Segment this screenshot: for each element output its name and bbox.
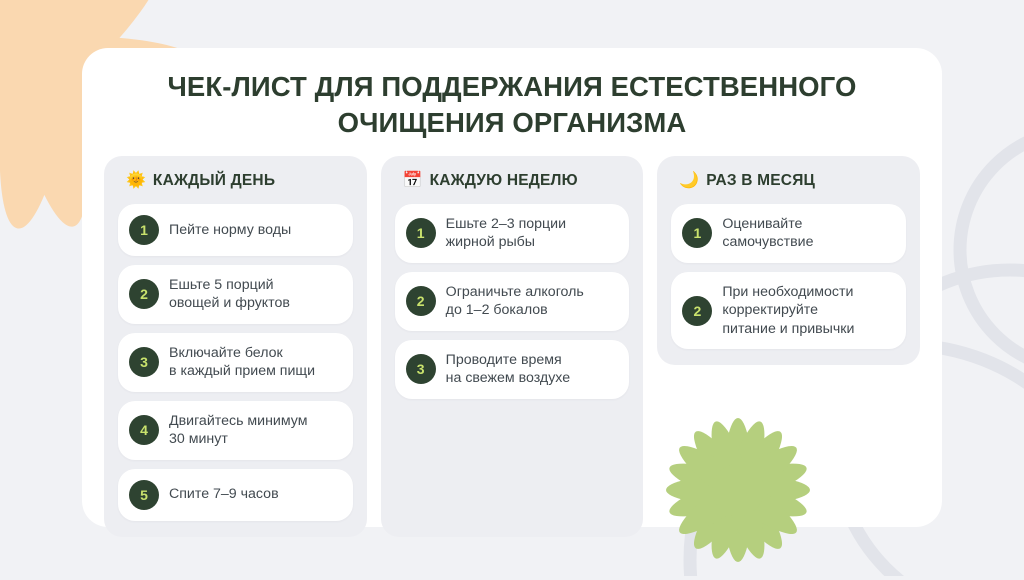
- item-number-badge: 2: [406, 286, 436, 316]
- item-text: Пейте норму воды: [169, 221, 291, 239]
- item-number-badge: 1: [406, 218, 436, 248]
- item-text: Ешьте 2–3 порции жирной рыбы: [446, 215, 566, 252]
- item-text: Ограничьте алкоголь до 1–2 бокалов: [446, 283, 584, 320]
- item-number-badge: 2: [129, 279, 159, 309]
- columns-container: 🌞 КАЖДЫЙ ДЕНЬ 1 Пейте норму воды 2 Ешьте…: [104, 156, 920, 537]
- item-text: При необходимости корректируйте питание …: [722, 283, 854, 338]
- list-item[interactable]: 4 Двигайтесь минимум 30 минут: [118, 401, 353, 460]
- list-item[interactable]: 3 Включайте белок в каждый прием пищи: [118, 333, 353, 392]
- item-number-badge: 1: [682, 218, 712, 248]
- column-header-weekly: 📅 КАЖДУЮ НЕДЕЛЮ: [395, 170, 630, 190]
- list-item[interactable]: 5 Спите 7–9 часов: [118, 469, 353, 521]
- crescent-moon-icon: 🌙: [679, 173, 699, 189]
- list-item[interactable]: 2 При необходимости корректируйте питани…: [671, 272, 906, 349]
- column-panel-weekly: 📅 КАЖДУЮ НЕДЕЛЮ 1 Ешьте 2–3 порции жирно…: [381, 156, 644, 537]
- column-panel-monthly: 🌙 РАЗ В МЕСЯЦ 1 Оценивайте самочувствие …: [657, 156, 920, 365]
- item-number-badge: 3: [129, 347, 159, 377]
- list-item[interactable]: 3 Проводите время на свежем воздухе: [395, 340, 630, 399]
- column-header-monthly: 🌙 РАЗ В МЕСЯЦ: [671, 170, 906, 190]
- item-number-badge: 1: [129, 215, 159, 245]
- item-number-badge: 5: [129, 480, 159, 510]
- page-title: ЧЕК-ЛИСТ ДЛЯ ПОДДЕРЖАНИЯ ЕСТЕСТВЕННОГО О…: [82, 69, 942, 141]
- column-panel-daily: 🌞 КАЖДЫЙ ДЕНЬ 1 Пейте норму воды 2 Ешьте…: [104, 156, 367, 537]
- item-number-badge: 4: [129, 415, 159, 445]
- item-list-monthly: 1 Оценивайте самочувствие 2 При необходи…: [671, 204, 906, 349]
- item-list-daily: 1 Пейте норму воды 2 Ешьте 5 порций овощ…: [118, 204, 353, 521]
- list-item[interactable]: 2 Ограничьте алкоголь до 1–2 бокалов: [395, 272, 630, 331]
- column-title-monthly: РАЗ В МЕСЯЦ: [706, 172, 815, 190]
- list-item[interactable]: 2 Ешьте 5 порций овощей и фруктов: [118, 265, 353, 324]
- item-text: Спите 7–9 часов: [169, 485, 279, 503]
- list-item[interactable]: 1 Пейте норму воды: [118, 204, 353, 256]
- list-item[interactable]: 1 Ешьте 2–3 порции жирной рыбы: [395, 204, 630, 263]
- column-header-daily: 🌞 КАЖДЫЙ ДЕНЬ: [118, 170, 353, 190]
- item-text: Ешьте 5 порций овощей и фруктов: [169, 276, 290, 313]
- calendar-icon: 📅: [403, 173, 423, 189]
- item-number-badge: 3: [406, 354, 436, 384]
- list-item[interactable]: 1 Оценивайте самочувствие: [671, 204, 906, 263]
- item-text: Проводите время на свежем воздухе: [446, 351, 570, 388]
- item-list-weekly: 1 Ешьте 2–3 порции жирной рыбы 2 Огранич…: [395, 204, 630, 399]
- checklist-card: ЧЕК-ЛИСТ ДЛЯ ПОДДЕРЖАНИЯ ЕСТЕСТВЕННОГО О…: [82, 48, 942, 527]
- item-text: Двигайтесь минимум 30 минут: [169, 412, 307, 449]
- column-title-weekly: КАЖДУЮ НЕДЕЛЮ: [430, 172, 578, 190]
- item-text: Оценивайте самочувствие: [722, 215, 813, 252]
- sun-icon: 🌞: [126, 173, 146, 189]
- item-number-badge: 2: [682, 296, 712, 326]
- column-title-daily: КАЖДЫЙ ДЕНЬ: [153, 172, 275, 190]
- item-text: Включайте белок в каждый прием пищи: [169, 344, 315, 381]
